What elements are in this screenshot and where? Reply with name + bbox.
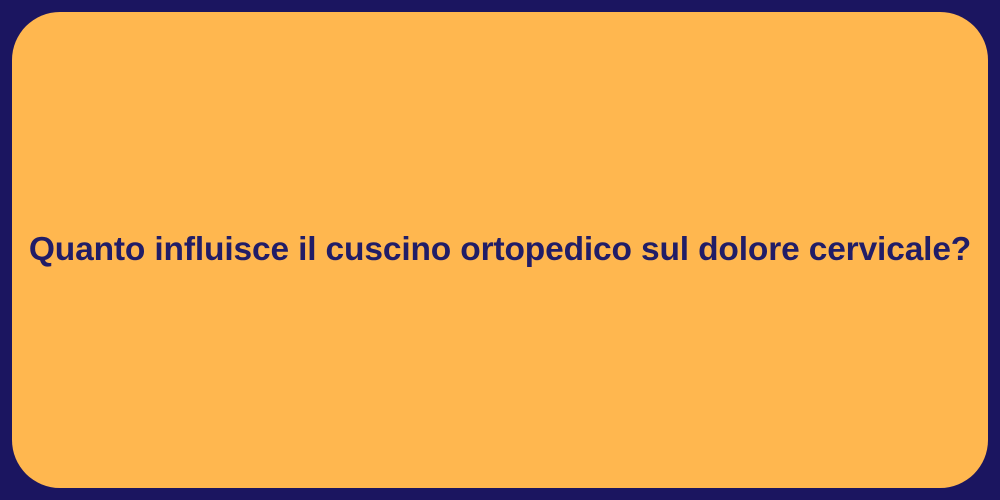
banner-headline: Quanto influisce il cuscino ortopedico s…	[29, 229, 971, 271]
banner-frame: Quanto influisce il cuscino ortopedico s…	[0, 0, 1000, 500]
banner-card: Quanto influisce il cuscino ortopedico s…	[12, 12, 988, 488]
